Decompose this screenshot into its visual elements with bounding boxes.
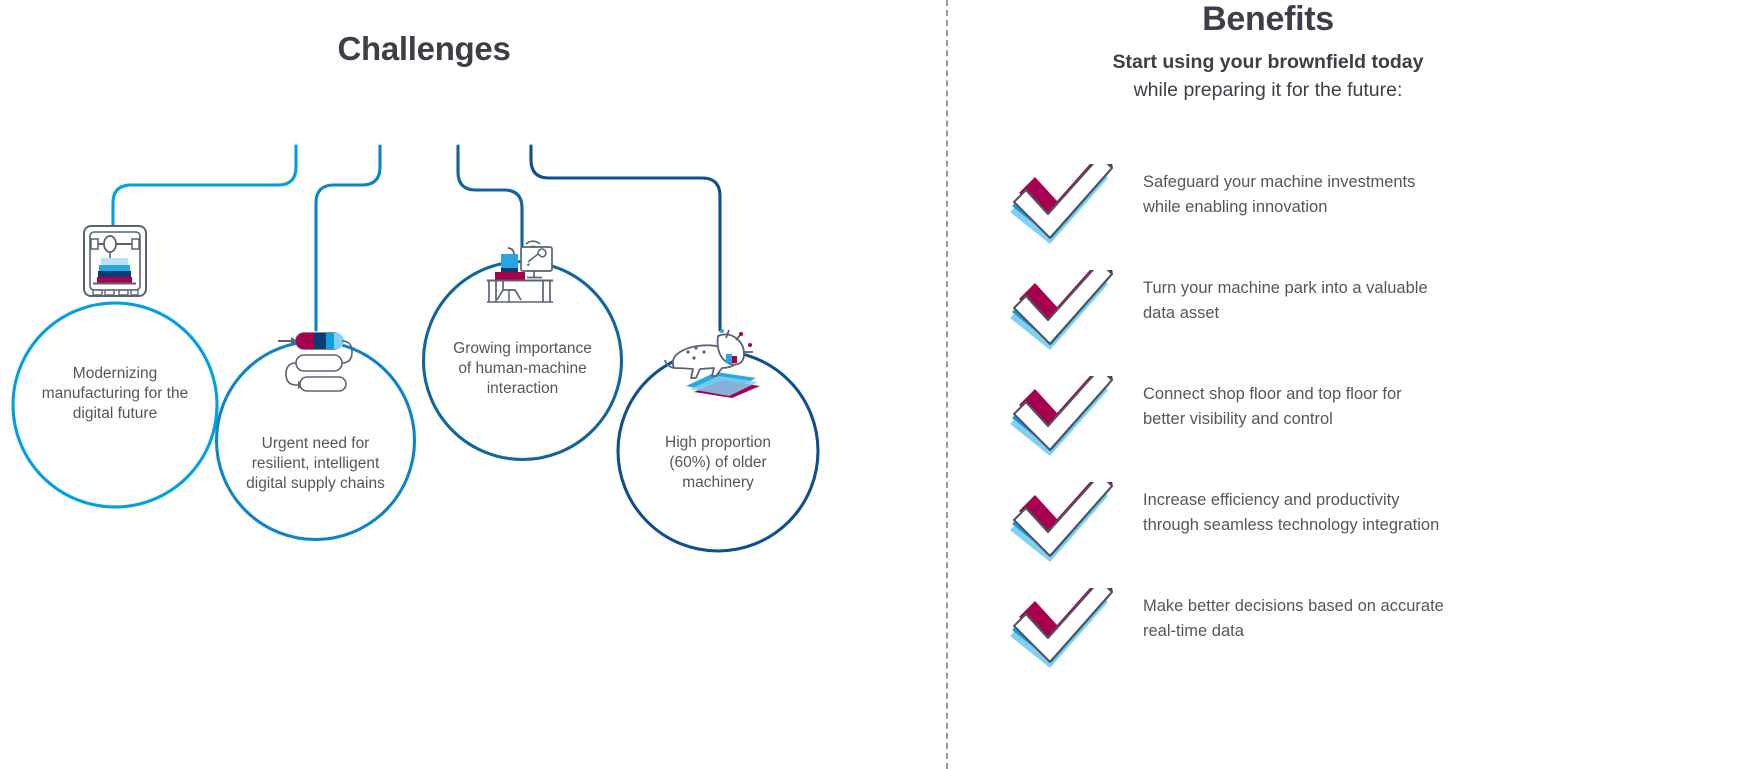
challenges-panel: Challenges Modernizing manufacturing for… [0,0,947,769]
benefit-line: data asset [1143,301,1743,326]
challenge-label-human-machine: Growing importance of human-machine inte… [420,339,625,399]
check-icon [1004,164,1114,250]
check-icon [1004,588,1114,674]
challenge-line: High proportion [615,433,821,453]
challenge-node-modernizing: Modernizing manufacturing for the digita… [10,300,220,510]
challenge-line: interaction [420,379,625,399]
dinosaur-icon [664,328,772,400]
check-icon [1004,270,1114,356]
challenge-line: Modernizing [10,364,220,384]
benefit-item: Turn your machine park into a valuable d… [948,264,1762,370]
benefit-item: Connect shop floor and top floor for bet… [948,370,1762,476]
benefit-item: Safeguard your machine investments while… [948,158,1762,264]
benefit-label: Increase efficiency and productivity thr… [1143,488,1743,538]
benefit-label: Safeguard your machine investments while… [1143,170,1743,220]
challenge-line: resilient, intelligent [213,454,418,474]
benefit-line: while enabling innovation [1143,195,1743,220]
benefit-line: real-time data [1143,619,1743,644]
benefit-line: better visibility and control [1143,407,1743,432]
benefits-list: Safeguard your machine investments while… [948,158,1762,688]
challenge-line: digital future [10,404,220,424]
challenge-label-modernizing: Modernizing manufacturing for the digita… [10,364,220,424]
benefit-label: Connect shop floor and top floor for bet… [1143,382,1743,432]
benefit-line: Increase efficiency and productivity [1143,488,1743,513]
benefits-subtitle-regular: while preparing it for the future: [948,79,1588,102]
challenge-line: Urgent need for [213,434,418,454]
benefits-subtitle-bold: Start using your brownfield today [948,51,1588,74]
infographic-root: Challenges Modernizing manufacturing for… [0,0,1762,769]
workstation-icon [481,232,557,304]
benefit-line: through seamless technology integration [1143,513,1743,538]
benefit-label: Turn your machine park into a valuable d… [1143,276,1743,326]
challenge-line: manufacturing for the [10,384,220,404]
benefit-line: Safeguard your machine investments [1143,170,1743,195]
challenge-line: Growing importance [420,339,625,359]
supply-chain-icon [276,330,354,392]
check-icon [1004,482,1114,568]
benefit-line: Connect shop floor and top floor for [1143,382,1743,407]
benefits-title: Benefits [948,0,1588,39]
benefit-line: Make better decisions based on accurate [1143,594,1743,619]
benefit-item: Increase efficiency and productivity thr… [948,476,1762,582]
benefits-panel: Benefits Start using your brownfield tod… [948,0,1762,769]
challenge-line: digital supply chains [213,474,418,494]
benefit-item: Make better decisions based on accurate … [948,582,1762,688]
challenge-label-older-machinery: High proportion (60%) of older machinery [615,433,821,493]
challenge-label-supply-chains: Urgent need for resilient, intelligent d… [213,434,418,494]
3d-printer-icon [79,224,151,298]
challenge-line: of human-machine [420,359,625,379]
challenge-line: machinery [615,473,821,493]
check-icon [1004,376,1114,462]
challenge-line: (60%) of older [615,453,821,473]
benefit-label: Make better decisions based on accurate … [1143,594,1743,644]
benefit-line: Turn your machine park into a valuable [1143,276,1743,301]
